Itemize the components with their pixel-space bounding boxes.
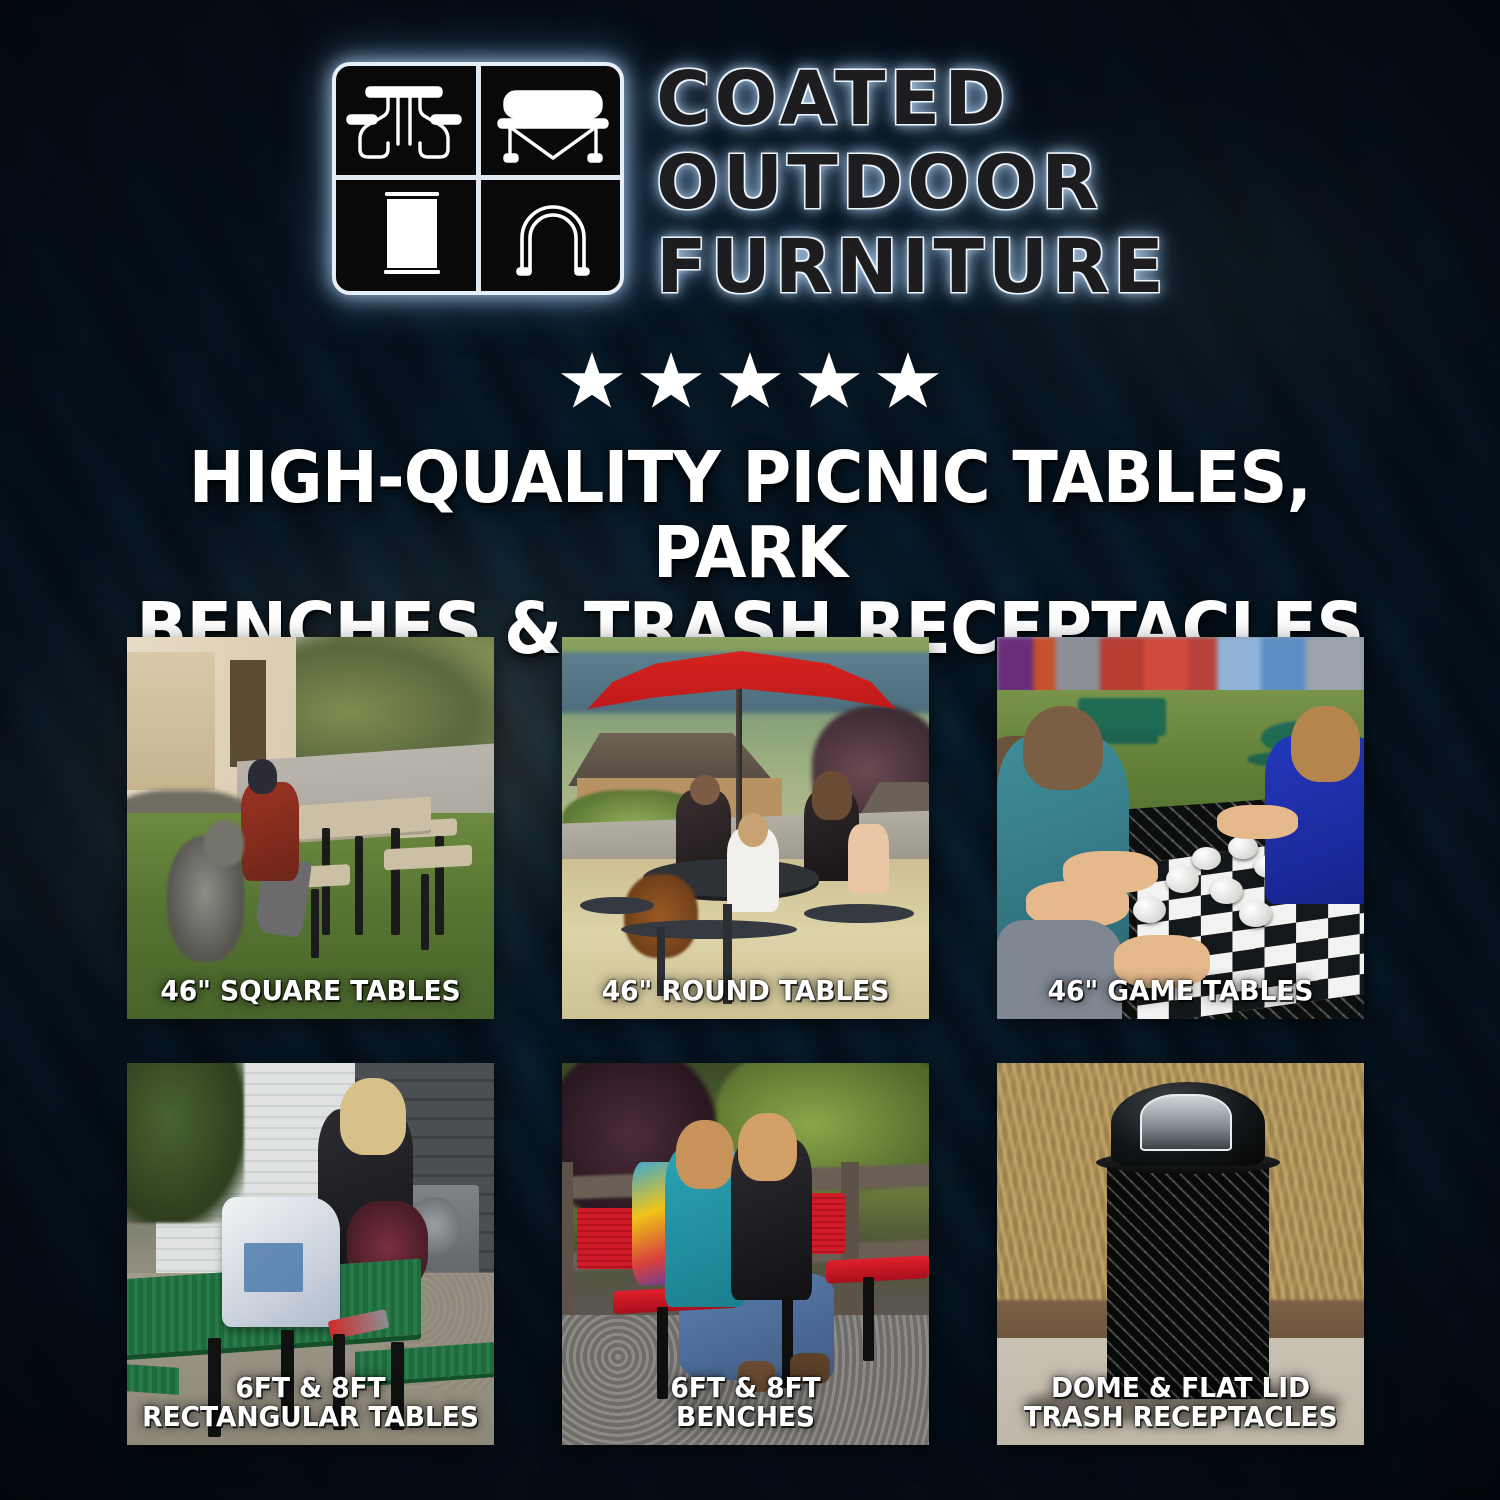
brand-wordmark: COATED OUTDOOR FURNITURE: [656, 64, 1168, 303]
company-logo-icon: [332, 62, 624, 295]
product-grid: 46" SQUARE TABLES: [127, 637, 1373, 1445]
headline-line-1: HIGH-QUALITY PICNIC TABLES, PARK: [101, 440, 1398, 591]
caption-line: 46" GAME TABLES: [1012, 977, 1349, 1006]
caption-line: 46" ROUND TABLES: [577, 977, 914, 1006]
star-icon: [798, 352, 860, 412]
product-tile-square-tables[interactable]: 46" SQUARE TABLES: [127, 637, 494, 1019]
brand-line-3: FURNITURE: [656, 232, 1168, 304]
star-icon: [561, 352, 623, 412]
promo-banner: COATED OUTDOOR FURNITURE HIGH-QUALITY PI…: [0, 0, 1500, 1500]
product-tile-rectangular-tables[interactable]: 6FT & 8FT RECTANGULAR TABLES: [127, 1063, 494, 1445]
product-tile-benches[interactable]: 6FT & 8FT BENCHES: [562, 1063, 929, 1445]
product-caption-rectangular-tables: 6FT & 8FT RECTANGULAR TABLES: [142, 1374, 479, 1432]
star-icon: [877, 352, 939, 412]
caption-line: TRASH RECEPTACLES: [1012, 1403, 1349, 1432]
star-icon: [719, 352, 781, 412]
brand-line-1: COATED: [656, 64, 1168, 136]
product-photo-round-tables: [562, 637, 929, 1019]
trash-receptacle-icon: [384, 192, 440, 274]
product-caption-round-tables: 46" ROUND TABLES: [577, 977, 914, 1006]
product-caption-trash-receptacles: DOME & FLAT LID TRASH RECEPTACLES: [1012, 1374, 1349, 1432]
product-tile-trash-receptacles[interactable]: DOME & FLAT LID TRASH RECEPTACLES: [997, 1063, 1364, 1445]
product-caption-square-tables: 46" SQUARE TABLES: [142, 977, 479, 1006]
product-caption-benches: 6FT & 8FT BENCHES: [577, 1374, 914, 1432]
headline: HIGH-QUALITY PICNIC TABLES, PARK BENCHES…: [101, 440, 1398, 666]
star-icon: [640, 352, 702, 412]
product-caption-game-tables: 46" GAME TABLES: [1012, 977, 1349, 1006]
product-tile-round-tables[interactable]: 46" ROUND TABLES: [562, 637, 929, 1019]
caption-line: 6FT & 8FT: [577, 1374, 914, 1403]
brand-header: COATED OUTDOOR FURNITURE: [0, 62, 1500, 303]
product-photo-square-tables: [127, 637, 494, 1019]
caption-line: RECTANGULAR TABLES: [142, 1403, 479, 1432]
brand-line-2: OUTDOOR: [656, 148, 1168, 220]
caption-line: 46" SQUARE TABLES: [142, 977, 479, 1006]
product-photo-game-tables: [997, 637, 1364, 1019]
product-tile-game-tables[interactable]: 46" GAME TABLES: [997, 637, 1364, 1019]
star-rating: [0, 352, 1500, 412]
caption-line: BENCHES: [577, 1403, 914, 1432]
caption-line: DOME & FLAT LID: [1012, 1374, 1349, 1403]
caption-line: 6FT & 8FT: [142, 1374, 479, 1403]
